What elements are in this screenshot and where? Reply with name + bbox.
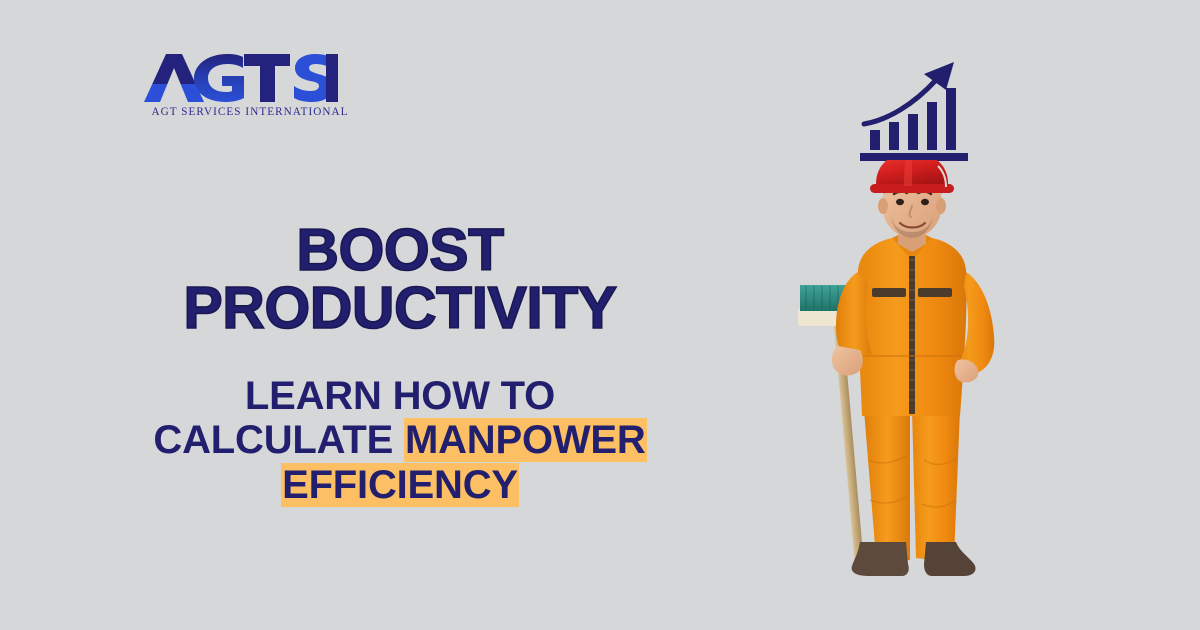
subhead-line-2-prefix: CALCULATE xyxy=(153,418,404,462)
headline-line-2: PRODUCTIVITY xyxy=(0,280,800,338)
subhead-highlight-manpower: MANPOWER xyxy=(404,418,647,462)
page-title: BOOST PRODUCTIVITY xyxy=(0,222,800,338)
headline-line-1: BOOST xyxy=(0,222,800,280)
subhead-line-1: LEARN HOW TO xyxy=(0,374,800,419)
subheading: LEARN HOW TO CALCULATE MANPOWER EFFICIEN… xyxy=(0,374,800,508)
left-hand xyxy=(832,346,863,375)
subhead-line-3: EFFICIENCY xyxy=(0,463,800,508)
worker-illustration xyxy=(760,160,1060,610)
logo-tagline: AGT SERVICES INTERNATIONAL xyxy=(140,106,360,118)
left-leg xyxy=(864,410,910,560)
brand-logo: AGT SERVICES INTERNATIONAL xyxy=(140,52,360,118)
right-boot xyxy=(924,542,976,576)
copy-block: BOOST PRODUCTIVITY LEARN HOW TO CALCULAT… xyxy=(0,222,800,508)
promo-banner: AGT SERVICES INTERNATIONAL BOOST PRODUCT… xyxy=(0,0,1200,630)
agtsi-logo-icon xyxy=(140,52,340,104)
subhead-highlight-efficiency: EFFICIENCY xyxy=(281,463,519,507)
right-chest-pocket xyxy=(918,288,952,297)
left-chest-pocket xyxy=(872,288,906,297)
growth-chart-icon xyxy=(858,58,978,163)
left-boot xyxy=(852,542,909,576)
subhead-line-2: CALCULATE MANPOWER xyxy=(0,418,800,463)
left-eye xyxy=(896,199,904,205)
right-eye xyxy=(921,199,929,205)
right-leg xyxy=(912,410,960,560)
hard-hat-icon xyxy=(870,160,954,193)
